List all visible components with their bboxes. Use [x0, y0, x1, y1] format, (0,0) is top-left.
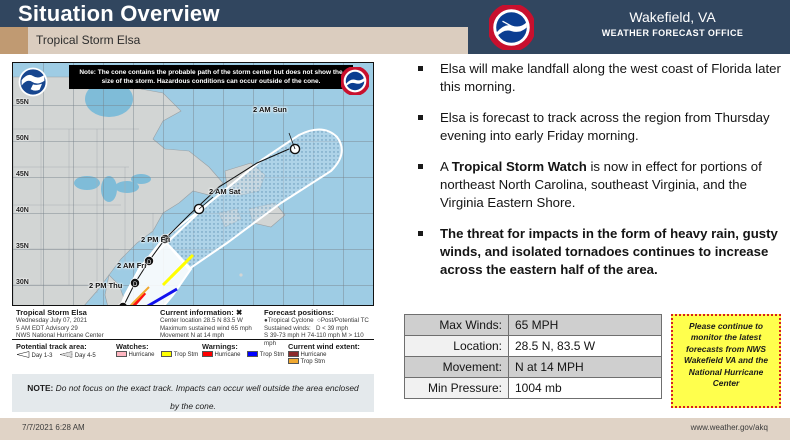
note-prefix: NOTE:: [27, 383, 53, 393]
map-legend-row: Potential track area: Day 1-3 Day 4-5: [12, 340, 374, 367]
bullet-item: The threat for impacts in the form of he…: [398, 225, 784, 279]
sustained-winds-label: Sustained winds:: [264, 325, 311, 332]
track-time-label: 2 AM Fri: [117, 261, 146, 270]
legend-warnings-header: Warnings:: [202, 342, 289, 351]
table-cell-value: N at 14 MPH: [509, 357, 662, 378]
table-cell-label: Location:: [405, 336, 509, 357]
noaa-logo-icon: [18, 67, 48, 97]
map-info-row: Tropical Storm Elsa Wednesday July 07, 2…: [12, 306, 374, 340]
map-lat-label: 40N: [16, 207, 29, 214]
swatch-extent-tropstm: [288, 358, 299, 364]
map-lat-label: 55N: [16, 99, 29, 106]
bullet-text: The threat for impacts in the form of he…: [440, 226, 778, 277]
current-information-title: Current information:: [160, 308, 234, 317]
current-center-location: Center location 28.5 N 83.5 W: [160, 317, 252, 325]
storm-date: Wednesday July 07, 2021: [16, 317, 104, 325]
storm-advisory: 5 AM EDT Advisory 29: [16, 325, 104, 333]
header-subtitle: Tropical Storm Elsa: [36, 31, 140, 49]
svg-text:D: D: [147, 260, 152, 266]
swatch-warn-tropstm: [247, 351, 258, 357]
bullet-marker-icon: [418, 231, 423, 236]
storm-data-table: Max Winds: 65 MPH Location: 28.5 N, 83.5…: [404, 314, 662, 399]
office-city: Wakefield, VA: [560, 0, 785, 26]
bullet-text: Elsa will make landfall along the west c…: [440, 61, 781, 94]
bullet-item: Elsa is forecast to track across the reg…: [398, 109, 784, 145]
svg-text:D: D: [133, 282, 138, 288]
storm-agency: NWS National Hurricane Center: [16, 332, 104, 340]
bullet-list: Elsa will make landfall along the west c…: [398, 60, 784, 292]
table-row: Movement: N at 14 MPH: [405, 357, 662, 378]
map-lat-label: 45N: [16, 171, 29, 178]
legend-watches: Watches: Hurricane Trop Stm: [116, 342, 203, 358]
legend-post-tropical: Post/Potential TC: [321, 317, 369, 324]
legend-day-1-3: Day 1-3: [16, 351, 53, 359]
forecast-positions-header: Forecast positions:: [264, 308, 374, 317]
track-time-label: 2 AM Sat: [209, 187, 240, 196]
footer-url[interactable]: www.weather.gov/akq: [691, 423, 768, 432]
table-row: Min Pressure: 1004 mb: [405, 378, 662, 399]
bullet-item: Elsa will make landfall along the west c…: [398, 60, 784, 96]
nws-seal-icon: [341, 67, 369, 95]
swatch-warn-hurricane: [202, 351, 213, 357]
legend-watches-header: Watches:: [116, 342, 203, 351]
swatch-watch-tropstm: [161, 351, 172, 357]
table-cell-label: Movement:: [405, 357, 509, 378]
storm-name: Tropical Storm Elsa: [16, 308, 104, 317]
legend-watch-hurricane: Hurricane: [116, 351, 155, 358]
page-title: Situation Overview: [18, 1, 220, 26]
header-accent-block: [0, 27, 28, 54]
track-time-label: 2 AM Sun: [253, 105, 287, 114]
office-identity: Wakefield, VA WEATHER FORECAST OFFICE: [560, 0, 785, 54]
sustained-winds-d: D < 39 mph: [316, 325, 348, 332]
legend-potential-track: Potential track area: Day 1-3 Day 4-5: [16, 342, 101, 359]
legend-day-4-5: Day 4-5: [59, 351, 96, 359]
note-box: NOTE: Do not focus on the exact track. I…: [12, 374, 374, 412]
legend-tropical-cyclone: Tropical Cyclone: [268, 317, 314, 324]
table-row: Location: 28.5 N, 83.5 W: [405, 336, 662, 357]
legend-warnings: Warnings: Hurricane Trop Stm: [202, 342, 289, 358]
footer-bar: 7/7/2021 6:28 AM www.weather.gov/akq: [0, 418, 790, 440]
note-text: Do not focus on the exact track. Impacts…: [53, 383, 358, 411]
legend-extent-header: Current wind extent:: [288, 342, 374, 351]
table-cell-value: 65 MPH: [509, 315, 662, 336]
table-cell-label: Min Pressure:: [405, 378, 509, 399]
current-movement: Movement N at 14 mph: [160, 332, 252, 340]
table-cell-value: 1004 mb: [509, 378, 662, 399]
legend-extent-tropstm: Trop Stm: [288, 358, 325, 365]
swatch-extent-hurricane: [288, 351, 299, 357]
current-max-wind: Maximum sustained wind 65 mph: [160, 325, 252, 333]
table-row: Max Winds: 65 MPH: [405, 315, 662, 336]
slide: Situation Overview Tropical Storm Elsa W…: [0, 0, 790, 440]
map-info-panel: Tropical Storm Elsa Wednesday July 07, 2…: [12, 305, 374, 367]
legend-warn-tropstm: Trop Stm: [247, 351, 284, 358]
bullet-text-before: A: [440, 159, 452, 174]
track-time-label: 2 PM Fri: [141, 235, 170, 244]
current-information: Current information: ✖ Center location 2…: [160, 308, 252, 340]
monitor-forecasts-callout: Please continue to monitor the latest fo…: [671, 314, 781, 408]
legend-extent-hurricane: Hurricane: [288, 351, 327, 358]
bullet-text-emphasis: Tropical Storm Watch: [452, 159, 587, 174]
callout-text: Please continue to monitor the latest fo…: [677, 321, 775, 389]
cone-solid-icon: [16, 351, 30, 358]
table-cell-value: 28.5 N, 83.5 W: [509, 336, 662, 357]
footer-timestamp: 7/7/2021 6:28 AM: [22, 423, 85, 432]
map-lat-label: 35N: [16, 243, 29, 250]
map-lat-label: 30N: [16, 279, 29, 286]
nws-seal-icon: [489, 5, 534, 50]
legend-watch-tropstm: Trop Stm: [161, 351, 198, 358]
current-information-header: Current information: ✖: [160, 308, 252, 317]
legend-warn-hurricane: Hurricane: [202, 351, 241, 358]
bullet-marker-icon: [418, 115, 423, 120]
bullet-text: Elsa is forecast to track across the reg…: [440, 110, 770, 143]
table-cell-label: Max Winds:: [405, 315, 509, 336]
swatch-watch-hurricane: [116, 351, 127, 357]
map-note-banner: Note: The cone contains the probable pat…: [69, 65, 353, 89]
map-lat-label: 50N: [16, 135, 29, 142]
bullet-item: A Tropical Storm Watch is now in effect …: [398, 158, 784, 212]
bullet-marker-icon: [418, 164, 423, 169]
bullet-marker-icon: [418, 66, 423, 71]
storm-summary: Tropical Storm Elsa Wednesday July 07, 2…: [16, 308, 104, 340]
legend-track-header: Potential track area:: [16, 342, 101, 351]
current-position-x-icon: ✖: [236, 308, 242, 317]
track-time-label: 2 PM Thu: [89, 281, 122, 290]
cone-dotted-icon: [59, 351, 73, 358]
office-label: WEATHER FORECAST OFFICE: [560, 26, 785, 40]
legend-wind-extent: Current wind extent: Hurricane Trop Stm: [288, 342, 374, 365]
